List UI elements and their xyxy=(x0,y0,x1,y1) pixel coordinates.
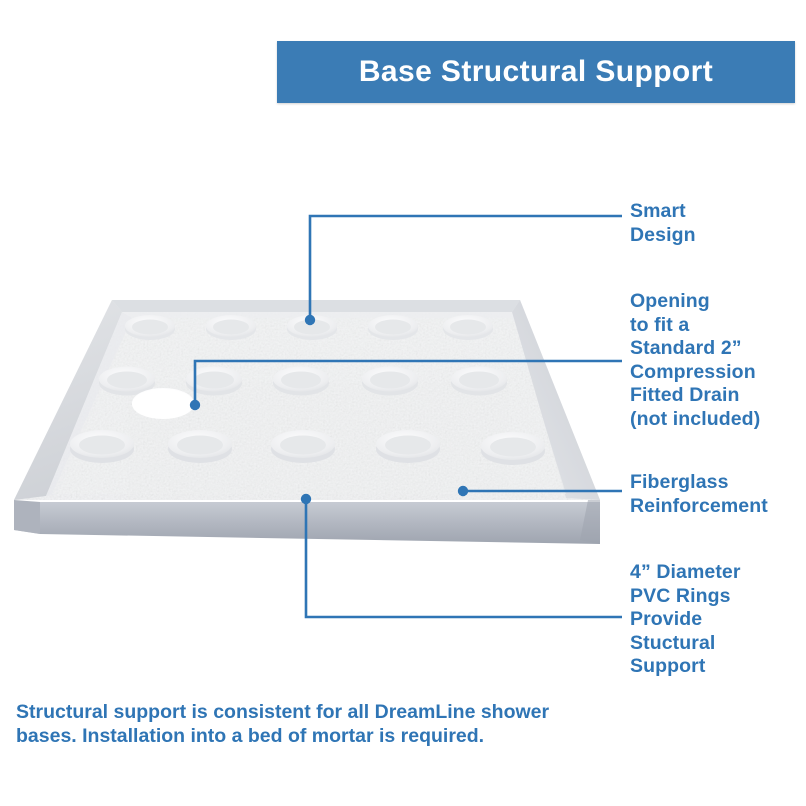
leader-pvc-rings xyxy=(306,499,622,617)
leader-dot-smart-design xyxy=(305,315,315,325)
callout-pvc-rings: 4” Diameter PVC Rings Provide Stuctural … xyxy=(630,561,741,679)
infographic-canvas: Base Structural Support Smart Design Ope… xyxy=(0,0,806,806)
leader-smart-design xyxy=(310,216,622,320)
callout-smart-design: Smart Design xyxy=(630,200,696,247)
leader-dot-drain xyxy=(190,400,200,410)
leader-drain xyxy=(195,361,622,405)
callout-drain-opening: Opening to fit a Standard 2” Compression… xyxy=(630,290,760,431)
callout-fiberglass-reinforcement: Fiberglass Reinforcement xyxy=(630,471,768,518)
footer-caption: Structural support is consistent for all… xyxy=(16,700,556,748)
header-banner: Base Structural Support xyxy=(277,41,795,103)
leader-dot-pvc-rings xyxy=(301,494,311,504)
page-title: Base Structural Support xyxy=(277,41,795,103)
leader-dot-fiberglass xyxy=(458,486,468,496)
